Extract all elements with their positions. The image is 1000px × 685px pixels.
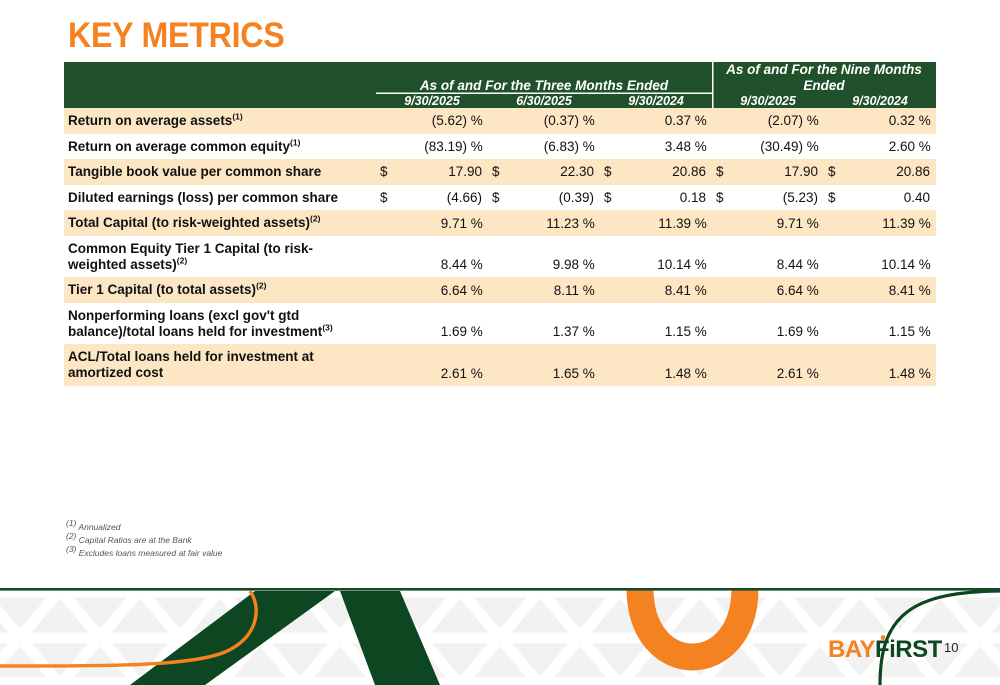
footnote-marker: (2)	[177, 255, 187, 265]
percent-symbol: %	[467, 113, 482, 128]
cell-value: 1.65 %	[488, 344, 600, 385]
table-row: Common Equity Tier 1 Capital (to risk-we…	[64, 236, 936, 277]
cell-value: $20.86	[824, 159, 936, 185]
percent-symbol: %	[691, 139, 706, 154]
cell-value: 1.48 %	[824, 344, 936, 385]
table-row: Return on average assets(1)(5.62) %(0.37…	[64, 108, 936, 134]
page-number: 10	[944, 640, 958, 655]
table-body: Return on average assets(1)(5.62) %(0.37…	[64, 108, 936, 386]
cell-value: (0.37) %	[488, 108, 600, 134]
footnote-marker: (3)	[322, 322, 332, 332]
logo-accent-dot	[881, 635, 886, 640]
date-header-n2: 9/30/2024	[824, 94, 936, 108]
currency-symbol: $	[490, 190, 500, 205]
cell-value: 9.98 %	[488, 236, 600, 277]
footnote-line: (2) Capital Ratios are at the Bank	[66, 534, 222, 547]
percent-symbol: %	[803, 216, 818, 231]
footnote-marker: (1)	[290, 137, 300, 147]
percent-symbol: %	[467, 283, 482, 298]
footnote-marker: (2)	[66, 531, 76, 541]
cell-value: $17.90	[376, 159, 488, 185]
date-header-q3: 9/30/2024	[600, 94, 712, 108]
percent-symbol: %	[467, 139, 482, 154]
cell-value: 0.37 %	[600, 108, 712, 134]
percent-symbol: %	[915, 366, 930, 381]
currency-symbol: $	[714, 164, 724, 179]
percent-symbol: %	[915, 113, 930, 128]
currency-symbol: $	[490, 164, 500, 179]
cell-value: (6.83) %	[488, 134, 600, 160]
percent-symbol: %	[915, 139, 930, 154]
footnote-marker: (2)	[310, 214, 320, 224]
cell-value: 10.14 %	[824, 236, 936, 277]
row-label: Tier 1 Capital (to total assets)(2)	[64, 277, 376, 303]
percent-symbol: %	[915, 283, 930, 298]
cell-value: 8.11 %	[488, 277, 600, 303]
date-header-n1: 9/30/2025	[712, 94, 824, 108]
percent-symbol: %	[467, 257, 482, 272]
table-row: Tier 1 Capital (to total assets)(2)6.64 …	[64, 277, 936, 303]
cell-value: 8.41 %	[824, 277, 936, 303]
row-label: Return on average assets(1)	[64, 108, 376, 134]
table-row: Nonperforming loans (excl gov't gtd bala…	[64, 303, 936, 344]
percent-symbol: %	[467, 216, 482, 231]
percent-symbol: %	[579, 139, 594, 154]
brand-logo: BAYFiRST	[828, 636, 942, 664]
footnote-line: (1) Annualized	[66, 521, 222, 534]
cell-value: (2.07) %	[712, 108, 824, 134]
percent-symbol: %	[915, 216, 930, 231]
percent-symbol: %	[579, 324, 594, 339]
cell-value: (5.62) %	[376, 108, 488, 134]
currency-symbol: $	[714, 190, 724, 205]
cell-value: 1.48 %	[600, 344, 712, 385]
date-header-row: 9/30/2025 6/30/2025 9/30/2024 9/30/2025 …	[64, 94, 936, 108]
cell-value: 2.61 %	[376, 344, 488, 385]
row-label: Tangible book value per common share	[64, 159, 376, 185]
cell-value: $0.18	[600, 185, 712, 211]
cell-value: $20.86	[600, 159, 712, 185]
currency-symbol: $	[826, 164, 836, 179]
footnote-marker: (1)	[66, 518, 76, 528]
percent-symbol: %	[691, 324, 706, 339]
percent-symbol: %	[579, 113, 594, 128]
table-row: Return on average common equity(1)(83.19…	[64, 134, 936, 160]
logo-text-bay: BAY	[828, 636, 875, 663]
percent-symbol: %	[915, 324, 930, 339]
percent-symbol: %	[579, 366, 594, 381]
percent-symbol: %	[691, 216, 706, 231]
row-label: Diluted earnings (loss) per common share	[64, 185, 376, 211]
percent-symbol: %	[803, 257, 818, 272]
cell-value: 11.39 %	[824, 210, 936, 236]
logo-text-first: FiRST	[875, 636, 942, 663]
percent-symbol: %	[803, 113, 818, 128]
cell-value: $0.40	[824, 185, 936, 211]
date-header-q2: 6/30/2025	[488, 94, 600, 108]
table-row: ACL/Total loans held for investment at a…	[64, 344, 936, 385]
footnote-marker: (1)	[232, 111, 242, 121]
cell-value: $(5.23)	[712, 185, 824, 211]
currency-symbol: $	[378, 190, 388, 205]
percent-symbol: %	[803, 283, 818, 298]
percent-symbol: %	[691, 113, 706, 128]
currency-symbol: $	[602, 190, 612, 205]
key-metrics-table: As of and For the Three Months Ended As …	[64, 62, 936, 386]
cell-value: 1.15 %	[600, 303, 712, 344]
footnote-marker: (2)	[256, 281, 266, 291]
row-label: ACL/Total loans held for investment at a…	[64, 344, 376, 385]
header-corner-blank	[64, 62, 376, 94]
cell-value: 8.41 %	[600, 277, 712, 303]
row-label: Total Capital (to risk-weighted assets)(…	[64, 210, 376, 236]
column-group-nine-months: As of and For the Nine Months Ended	[712, 62, 936, 94]
row-label: Nonperforming loans (excl gov't gtd bala…	[64, 303, 376, 344]
cell-value: 2.60 %	[824, 134, 936, 160]
row-label: Common Equity Tier 1 Capital (to risk-we…	[64, 236, 376, 277]
cell-value: 1.37 %	[488, 303, 600, 344]
cell-value: 2.61 %	[712, 344, 824, 385]
page-title: KEY METRICS	[68, 16, 284, 56]
percent-symbol: %	[915, 257, 930, 272]
table-row: Diluted earnings (loss) per common share…	[64, 185, 936, 211]
cell-value: 1.15 %	[824, 303, 936, 344]
cell-value: 6.64 %	[712, 277, 824, 303]
percent-symbol: %	[803, 324, 818, 339]
cell-value: (83.19) %	[376, 134, 488, 160]
percent-symbol: %	[803, 139, 818, 154]
table-row: Total Capital (to risk-weighted assets)(…	[64, 210, 936, 236]
footnote-line: (3) Excludes loans measured at fair valu…	[66, 547, 222, 560]
key-metrics-table-wrapper: As of and For the Three Months Ended As …	[64, 62, 936, 386]
group-header-row: As of and For the Three Months Ended As …	[64, 62, 936, 94]
cell-value: $22.30	[488, 159, 600, 185]
slide-root: KEY METRICS As of and For the Three Mont…	[0, 0, 1000, 685]
cell-value: 6.64 %	[376, 277, 488, 303]
percent-symbol: %	[579, 283, 594, 298]
cell-value: $17.90	[712, 159, 824, 185]
cell-value: 11.23 %	[488, 210, 600, 236]
cell-value: 0.32 %	[824, 108, 936, 134]
footnotes: (1) Annualized(2) Capital Ratios are at …	[66, 521, 222, 561]
cell-value: 9.71 %	[712, 210, 824, 236]
table-header: As of and For the Three Months Ended As …	[64, 62, 936, 108]
percent-symbol: %	[467, 366, 482, 381]
row-label: Return on average common equity(1)	[64, 134, 376, 160]
cell-value: 8.44 %	[712, 236, 824, 277]
cell-value: 8.44 %	[376, 236, 488, 277]
cell-value: 9.71 %	[376, 210, 488, 236]
percent-symbol: %	[691, 257, 706, 272]
percent-symbol: %	[803, 366, 818, 381]
footnote-marker: (3)	[66, 545, 76, 555]
currency-symbol: $	[602, 164, 612, 179]
cell-value: $(4.66)	[376, 185, 488, 211]
percent-symbol: %	[691, 283, 706, 298]
table-row: Tangible book value per common share$17.…	[64, 159, 936, 185]
percent-symbol: %	[467, 324, 482, 339]
cell-value: 10.14 %	[600, 236, 712, 277]
currency-symbol: $	[378, 164, 388, 179]
cell-value: 11.39 %	[600, 210, 712, 236]
currency-symbol: $	[826, 190, 836, 205]
column-group-three-months: As of and For the Three Months Ended	[376, 62, 712, 94]
cell-value: 1.69 %	[712, 303, 824, 344]
percent-symbol: %	[579, 216, 594, 231]
date-header-q1: 9/30/2025	[376, 94, 488, 108]
cell-value: (30.49) %	[712, 134, 824, 160]
percent-symbol: %	[691, 366, 706, 381]
cell-value: 3.48 %	[600, 134, 712, 160]
date-header-blank	[64, 94, 376, 108]
cell-value: 1.69 %	[376, 303, 488, 344]
percent-symbol: %	[579, 257, 594, 272]
cell-value: $(0.39)	[488, 185, 600, 211]
